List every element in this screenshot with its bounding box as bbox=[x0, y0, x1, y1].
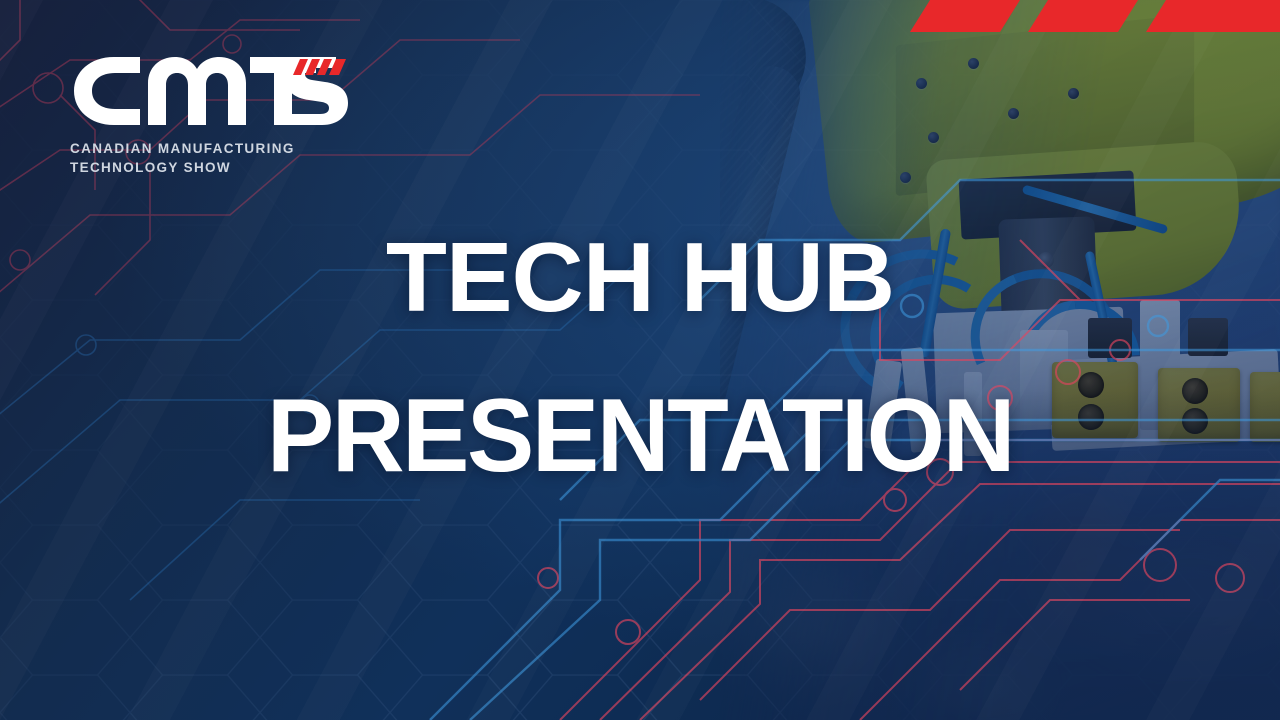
cmts-wordmark-svg bbox=[70, 55, 350, 127]
cmts-logo-subtitle: Canadian Manufacturing Technology Show bbox=[70, 139, 350, 177]
headline-line-1: TECH HUB bbox=[0, 228, 1280, 326]
headline-line-2: PRESENTATION bbox=[19, 384, 1261, 488]
cmts-logo[interactable]: Canadian Manufacturing Technology Show bbox=[70, 55, 350, 177]
presentation-slide: Canadian Manufacturing Technology Show T… bbox=[0, 0, 1280, 720]
headline-block: TECH HUB PRESENTATION bbox=[0, 228, 1280, 488]
corner-accent-slashes bbox=[880, 0, 1280, 40]
cmts-wordmark bbox=[70, 55, 350, 127]
